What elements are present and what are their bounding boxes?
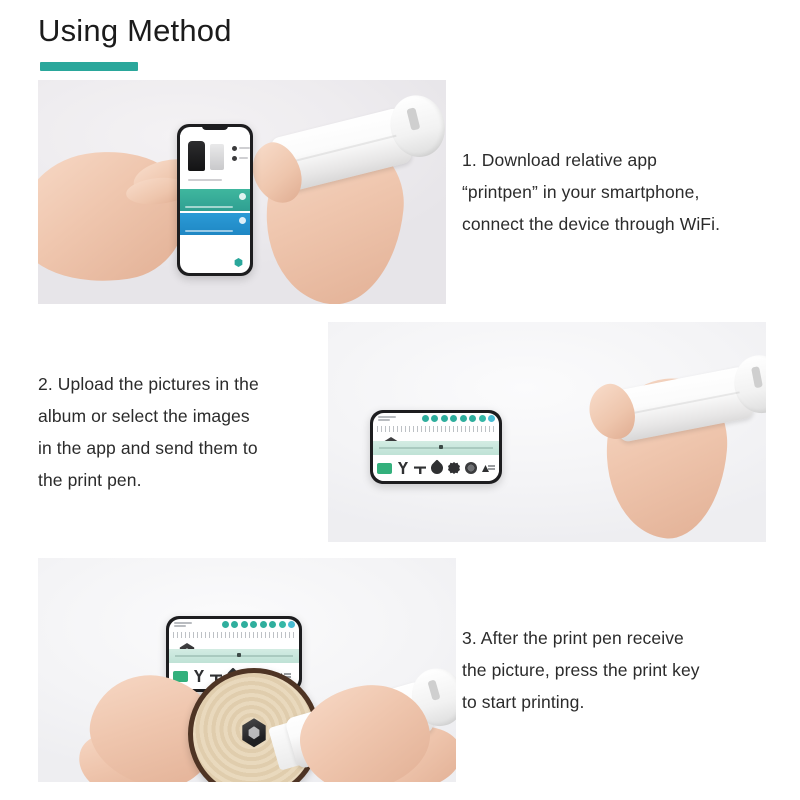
step-2-line-3: in the app and send them to bbox=[38, 432, 328, 464]
app-topbar bbox=[169, 619, 299, 631]
app-title-placeholder bbox=[174, 622, 192, 628]
printed-hexagon-logo bbox=[241, 718, 267, 747]
page-title: Using Method bbox=[38, 14, 232, 48]
color-swatch[interactable] bbox=[241, 621, 248, 628]
step-1-line-1: 1. Download relative app bbox=[462, 144, 782, 176]
smartphone-landscape bbox=[370, 410, 502, 484]
color-swatch[interactable] bbox=[450, 415, 457, 422]
timeline-handle[interactable] bbox=[237, 653, 241, 657]
row-toggle[interactable] bbox=[239, 217, 246, 224]
color-swatch[interactable] bbox=[479, 415, 486, 422]
step-3-text: 3. After the print pen receive the pictu… bbox=[462, 622, 772, 718]
fork-tool-icon[interactable] bbox=[397, 462, 409, 474]
step-3-line-3: to start printing. bbox=[462, 686, 772, 718]
step-2-text: 2. Upload the pictures in the album or s… bbox=[38, 368, 328, 496]
color-swatch-row[interactable] bbox=[422, 415, 496, 422]
app-hexagon-logo-icon bbox=[234, 258, 243, 267]
gear-tool-icon[interactable] bbox=[448, 462, 460, 474]
row-label bbox=[185, 230, 233, 232]
product-card bbox=[180, 135, 250, 187]
color-swatch[interactable] bbox=[250, 621, 257, 628]
app-row-blue[interactable] bbox=[180, 213, 250, 235]
meta-dot bbox=[232, 156, 237, 161]
meta-line bbox=[239, 157, 248, 159]
meta-dot bbox=[232, 146, 237, 151]
phone-screen bbox=[373, 413, 499, 481]
step-1-photo bbox=[38, 80, 446, 304]
color-swatch[interactable] bbox=[260, 621, 267, 628]
product-image-light bbox=[210, 144, 224, 170]
color-swatch[interactable] bbox=[431, 415, 438, 422]
color-swatch[interactable] bbox=[441, 415, 448, 422]
step-3-line-2: the picture, press the print key bbox=[462, 654, 772, 686]
color-swatch[interactable] bbox=[488, 415, 495, 422]
ruler-guide bbox=[377, 426, 495, 432]
drop-tool-icon[interactable] bbox=[429, 460, 446, 477]
step-1-line-3: connect the device through WiFi. bbox=[462, 208, 782, 240]
product-image-dark bbox=[188, 141, 205, 171]
color-swatch[interactable] bbox=[231, 621, 238, 628]
crop-tool-icon[interactable] bbox=[414, 462, 426, 474]
timeline-handle[interactable] bbox=[439, 445, 443, 449]
step-1-line-2: “printpen” in your smartphone, bbox=[462, 176, 782, 208]
meta-line bbox=[239, 147, 250, 149]
color-swatch[interactable] bbox=[422, 415, 429, 422]
color-swatch[interactable] bbox=[269, 621, 276, 628]
color-swatch[interactable] bbox=[469, 415, 476, 422]
app-topbar bbox=[373, 413, 499, 425]
color-swatch-row[interactable] bbox=[222, 621, 296, 628]
row-label bbox=[185, 206, 233, 208]
color-swatch[interactable] bbox=[288, 621, 295, 628]
app-toolbar[interactable] bbox=[373, 455, 499, 481]
dial-tool-icon[interactable] bbox=[465, 462, 477, 474]
step-2-line-1: 2. Upload the pictures in the bbox=[38, 368, 328, 400]
fork-tool-icon[interactable] bbox=[193, 670, 205, 682]
text-tool-icon[interactable] bbox=[482, 462, 494, 474]
smartphone-portrait bbox=[177, 124, 253, 276]
step-2-line-4: the print pen. bbox=[38, 464, 328, 496]
color-swatch[interactable] bbox=[279, 621, 286, 628]
print-button[interactable] bbox=[377, 463, 392, 474]
color-swatch[interactable] bbox=[460, 415, 467, 422]
ruler-guide bbox=[173, 632, 295, 638]
title-underline-accent bbox=[40, 62, 138, 71]
meta-line bbox=[188, 179, 222, 181]
phone-notch bbox=[202, 125, 228, 130]
step-1-text: 1. Download relative app “printpen” in y… bbox=[462, 144, 782, 240]
step-2-photo bbox=[328, 322, 766, 542]
timeline-band[interactable] bbox=[373, 441, 499, 455]
app-title-placeholder bbox=[378, 416, 396, 422]
step-3-photo bbox=[38, 558, 456, 782]
step-2-line-2: album or select the images bbox=[38, 400, 328, 432]
phone-screen bbox=[180, 127, 250, 273]
timeline-band[interactable] bbox=[169, 649, 299, 663]
app-row-teal[interactable] bbox=[180, 189, 250, 211]
step-3-line-1: 3. After the print pen receive bbox=[462, 622, 772, 654]
row-toggle[interactable] bbox=[239, 193, 246, 200]
color-swatch[interactable] bbox=[222, 621, 229, 628]
